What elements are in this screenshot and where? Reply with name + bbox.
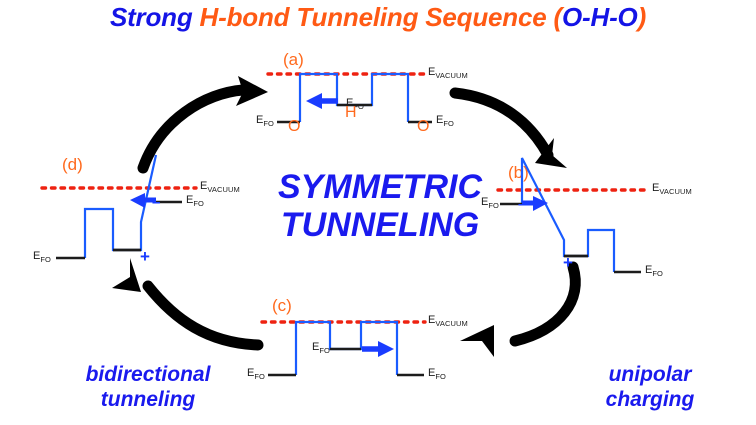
panel-a-atom-right-oxygen: O (417, 118, 429, 136)
panel-a-left-fermi-label: EFO (256, 114, 274, 128)
panel-c-mid-fermi-label: EFO (312, 341, 330, 355)
cycle-arrow-b-to-c (460, 267, 575, 357)
panel-b-negative-charge-sign: – (518, 196, 526, 213)
panel-c-potential-diagram (262, 322, 425, 375)
panel-c-tunnel-arrow-right (362, 341, 394, 357)
panel-d-positive-charge-sign: + (140, 247, 150, 267)
panel-b-vacuum-label: EVACUUM (652, 182, 692, 196)
cycle-arrow-d-to-a (143, 76, 268, 168)
diagram-vector-layer (0, 0, 756, 425)
panel-b-positive-charge-sign: + (563, 253, 573, 273)
diagram-canvas: Strong H-bond Tunneling Sequence (O-H-O)… (0, 0, 756, 425)
panel-a-right-fermi-label: EFO (436, 114, 454, 128)
panel-b-potential-diagram (498, 158, 648, 272)
panel-a-tunnel-arrow-left (306, 93, 338, 109)
panel-d-negative-charge-sign: – (152, 194, 160, 211)
panel-a-atom-hydrogen: H (345, 104, 357, 122)
cycle-arrow-c-to-d (112, 258, 258, 345)
panel-b-right-fermi-label: EFO (645, 264, 663, 278)
panel-d-right-fermi-label: EFO (186, 194, 204, 208)
panel-c-right-fermi-label: EFO (428, 367, 446, 381)
panel-d-left-fermi-label: EFO (33, 250, 51, 264)
panel-c-vacuum-label: EVACUUM (428, 314, 468, 328)
panel-d-vacuum-label: EVACUUM (200, 180, 240, 194)
panel-c-left-fermi-label: EFO (247, 367, 265, 381)
panel-a-vacuum-label: EVACUUM (428, 66, 468, 80)
panel-a-atom-left-oxygen: O (288, 118, 300, 136)
cycle-arrow-a-to-b (455, 93, 567, 168)
panel-d-potential-diagram (42, 155, 196, 258)
panel-b-left-fermi-label: EFO (481, 196, 499, 210)
